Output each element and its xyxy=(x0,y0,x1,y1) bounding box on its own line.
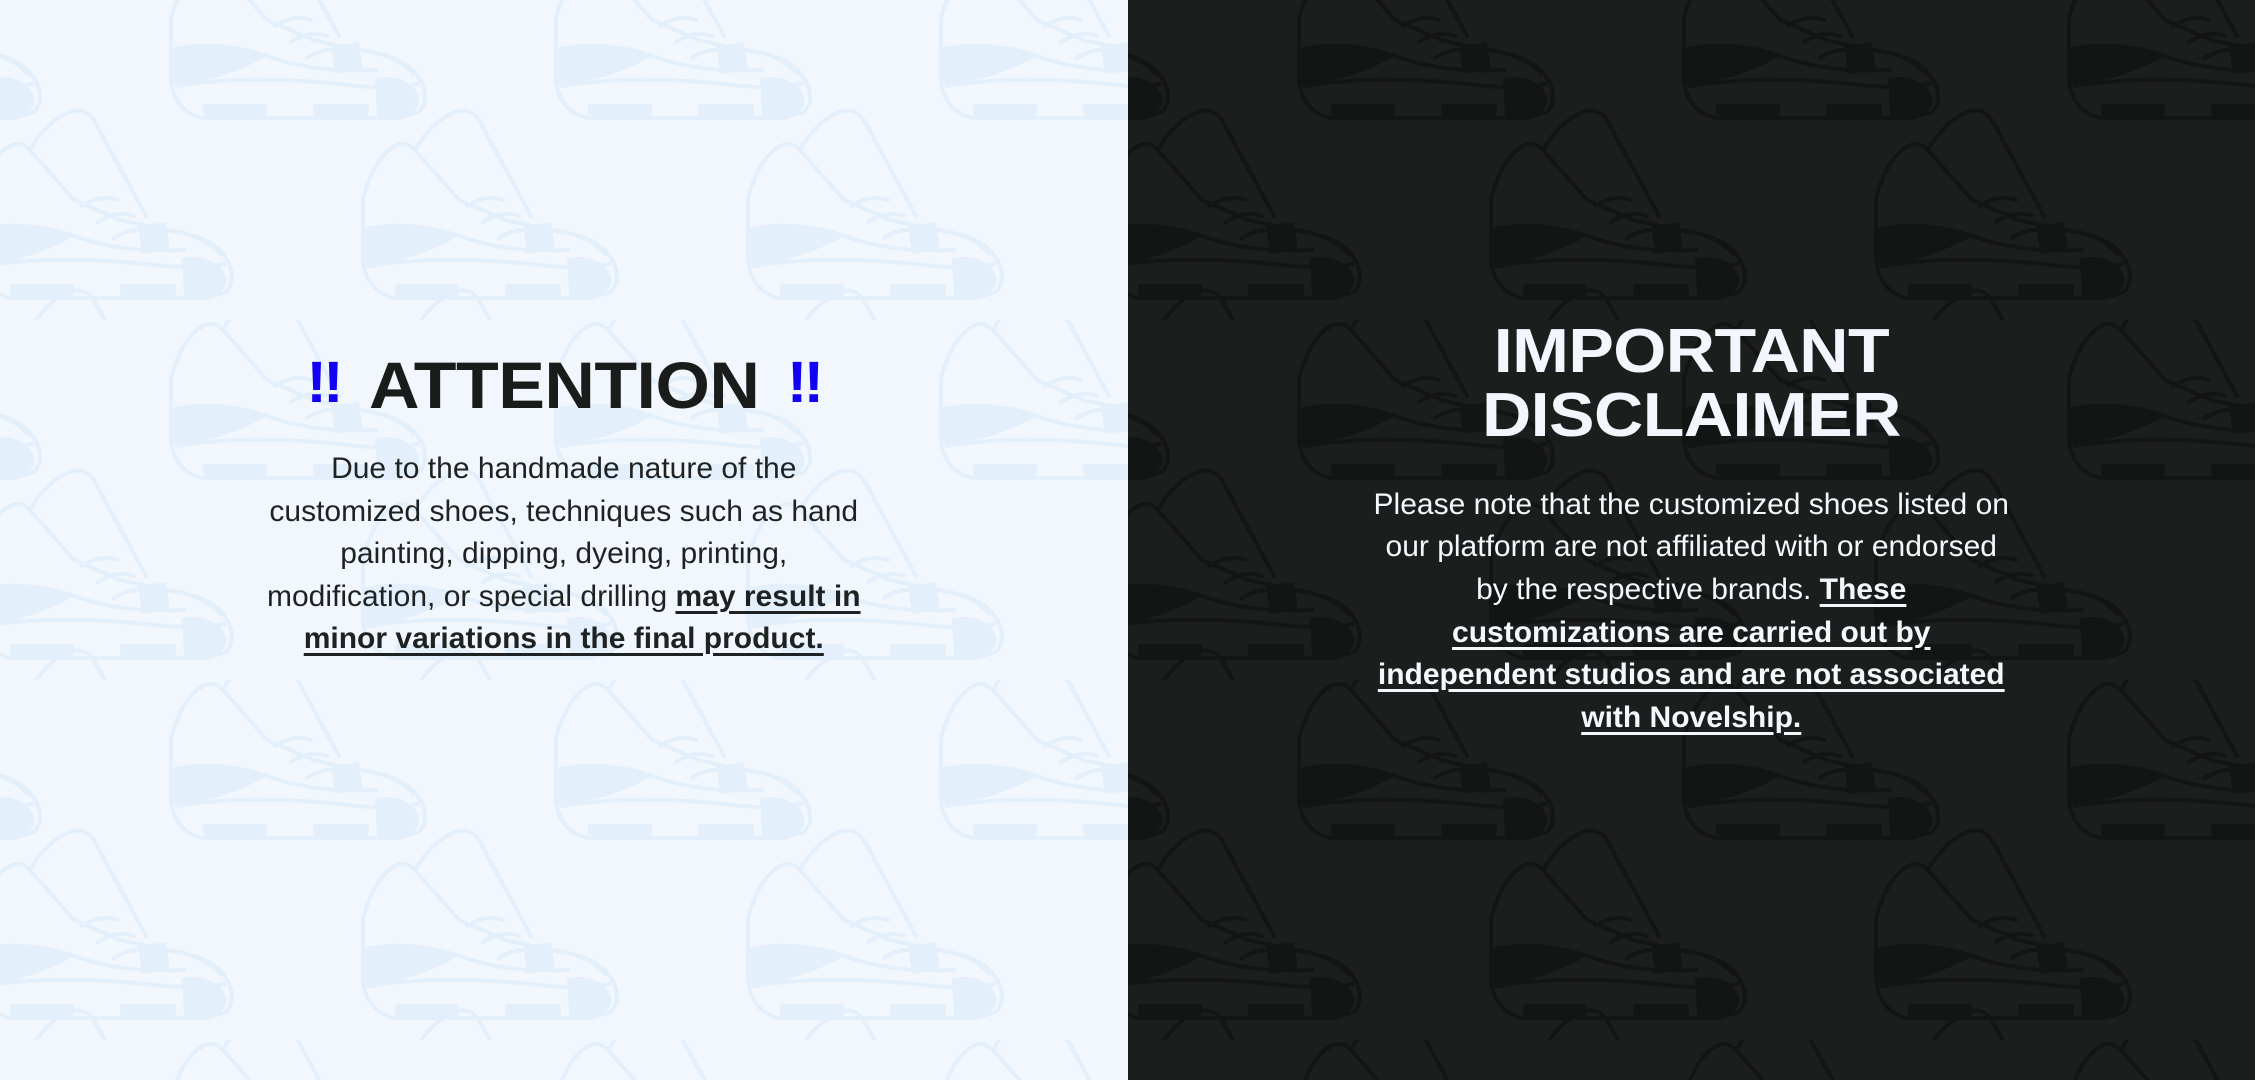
disclaimer-content: IMPORTANT DISCLAIMER Please note that th… xyxy=(1128,320,2255,739)
attention-heading-text: ATTENTION xyxy=(369,352,759,418)
disclaimer-banner: ‼ ATTENTION ‼ Due to the handmade nature… xyxy=(0,0,2255,1080)
disclaimer-heading-line-2: DISCLAIMER xyxy=(1482,384,1901,448)
disclaimer-heading-line-1: IMPORTANT xyxy=(1482,320,1901,384)
disclaimer-heading: IMPORTANT DISCLAIMER xyxy=(1482,320,1901,448)
attention-heading: ‼ ATTENTION ‼ xyxy=(306,352,822,418)
important-disclaimer-panel: IMPORTANT DISCLAIMER Please note that th… xyxy=(1128,0,2255,1080)
attention-body: Due to the handmade nature of the custom… xyxy=(259,448,869,661)
attention-panel: ‼ ATTENTION ‼ Due to the handmade nature… xyxy=(0,0,1128,1080)
double-exclamation-left-icon: ‼ xyxy=(306,354,341,412)
double-exclamation-right-icon: ‼ xyxy=(786,354,821,412)
attention-content: ‼ ATTENTION ‼ Due to the handmade nature… xyxy=(0,352,1128,661)
disclaimer-body: Please note that the customized shoes li… xyxy=(1371,484,2011,740)
disclaimer-body-plain: Please note that the customized shoes li… xyxy=(1374,488,2009,606)
